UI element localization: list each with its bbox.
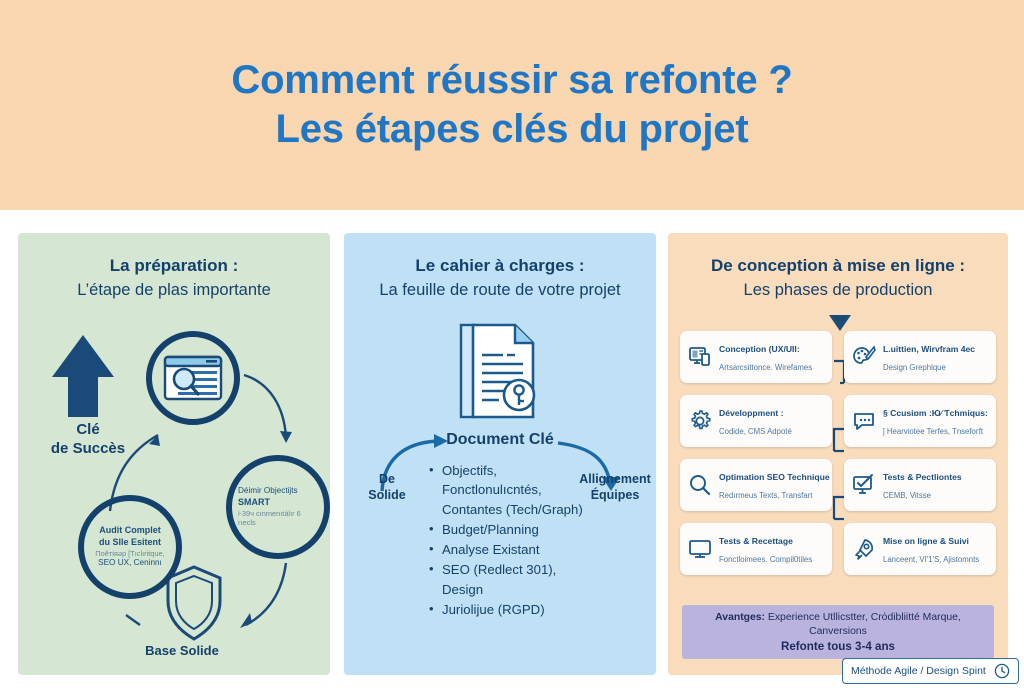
circle-audit-text: Audit Complet du Slle Esitent Поĕтіяəp [… [89,525,170,569]
gear-icon [687,408,713,434]
de-solide-label: De Solide [356,471,418,503]
card-conception[interactable]: Conception (UX/UIl: Artsarcsittonce. Wir… [680,331,832,383]
panel-production-title-main: De conception à mise en ligne : [711,256,965,275]
list-item: SEO (Redlect 301), Design [442,560,592,599]
shield-icon [168,567,220,639]
list-item: Objectifs, Fonctlonulıcntés, Contantes (… [442,461,592,519]
panel-preparation-subtitle: L’étape de plas importante [18,280,330,301]
infographic-canvas: Comment réussir sa refonte ? Les étapes … [0,0,1024,700]
avantages-banner: Avantges: Experience Utllicstter, Crόdib… [682,605,994,659]
card-text: § Ccusіɒm :Ю⁄ Ƭchmiqus: ĵ Неarviotee Ter… [883,403,989,439]
document-icon-wrap [344,321,656,430]
card-tests-recettage[interactable]: Tests & Recettage Fonctloimees. Compil0t… [680,523,832,575]
panel-cahier-title-main: Le cahier à charges : [415,256,584,275]
card-text: L.uittien, Wirvfram 4ec Design Grephlque [883,339,989,375]
panel-cahier-title: Le cahier à charges : La feuille de rout… [344,255,656,301]
panel-production: De conception à mise en ligne : Les phas… [668,233,1008,675]
checked-monitor-icon [851,472,877,498]
up-arrow-icon [52,335,114,417]
magnifier-icon [687,472,713,498]
panel-cahier-subtitle: La feuille de route de votre projet [344,280,656,301]
list-item: Juriolijue (RGPD) [442,600,592,619]
clock-icon [994,663,1010,679]
card-creation-graphique[interactable]: L.uittien, Wirvfram 4ec Design Grephlque [844,331,996,383]
badge-label: Méthode Agile / Design Spint [851,665,986,677]
palette-brush-icon [851,344,877,370]
chat-bubble-icon [851,408,877,434]
panel-production-subtitle: Les phases de production [668,280,1008,301]
card-text: Optimation SEO Technique Redırmeus Texts… [719,467,825,503]
panel-preparation: La préparation : L’étape de plas importa… [18,233,330,675]
card-row: Tests & Recettage Fonctloimees. Compil0t… [668,523,1008,575]
production-card-grid: Conception (UX/UIl: Artsarcsittonce. Wir… [668,331,1008,587]
avantages-text: Experience Utllicstter, Crόdibliitté Mar… [765,612,961,637]
circle-website-audit [146,331,240,425]
card-mise-en-ligne[interactable]: Mise on ligne & Suivi Lanceent, VI'1'S, … [844,523,996,575]
panel-cahier-des-charges: Le cahier à charges : La feuille de rout… [344,233,656,675]
card-tests-performances[interactable]: Tests & Pectliontes CEMB, Vitsse [844,459,996,511]
rocket-icon [851,536,877,562]
preparation-diagram: Clé de Succès [18,325,330,675]
base-solide-label: Base Solide [122,643,242,658]
circle-objectifs-smart: Déimir Objectijts SMART ⊦39ч cınmenıtálı… [226,455,330,559]
page-title-line2: Les étapes clés du projet [231,105,792,154]
methode-agile-badge[interactable]: Méthode Agile / Design Spint [842,658,1019,684]
card-text: Conception (UX/UIl: Artsarcsittonce. Wir… [719,339,825,375]
monitor-icon [687,536,713,562]
refonte-frequency: Refonte tous 3-4 ans [686,640,990,653]
card-optimation-seo[interactable]: Optimation SEO Technique Redırmeus Texts… [680,459,832,511]
document-key-icon [457,321,543,425]
card-text: Tests & Pectliontes CEMB, Vitsse [883,467,989,503]
page-title: Comment réussir sa refonte ? Les étapes … [231,56,792,154]
card-text: Mise on ligne & Suivi Lanceent, VI'1'S, … [883,531,989,567]
card-text: Développment : Codide, CMS Adpoté [719,403,825,439]
card-row: Conception (UX/UIl: Artsarcsittonce. Wir… [668,331,1008,383]
card-creation-contenus[interactable]: § Ccusіɒm :Ю⁄ Ƭchmiqus: ĵ Неarviotee Ter… [844,395,996,447]
card-text: Tests & Recettage Fonctloimees. Compil0t… [719,531,825,567]
list-item: Budget/Planning [442,520,592,539]
circle-smart-text: Déimir Objectijts SMART ⊦39ч cınmenıtálı… [232,486,324,528]
card-row: Développment : Codide, CMS Adpoté [668,395,1008,447]
panel-preparation-title-main: La préparation : [110,256,238,275]
list-item: Analyse Existant [442,540,592,559]
circle-audit-complet: Audit Complet du Slle Esitent Поĕтіяəp [… [78,495,182,599]
down-arrow-icon [829,315,851,331]
cahier-bullet-list: Objectifs, Fonctlonulıcntés, Contantes (… [428,461,592,620]
card-developpement[interactable]: Développment : Codide, CMS Adpoté [680,395,832,447]
panel-production-title: De conception à mise en ligne : Les phas… [668,255,1008,301]
header-banner: Comment réussir sa refonte ? Les étapes … [0,0,1024,210]
website-audit-search-icon [162,353,224,403]
avantages-prefix: Avantges: [715,612,765,623]
panel-preparation-title: La préparation : L’étape de plas importa… [18,255,330,301]
avantages-line: Avantges: Experience Utllicstter, Crόdib… [686,611,990,638]
cle-de-succes-label: Clé de Succès [40,421,136,459]
page-title-line1: Comment réussir sa refonte ? [231,58,792,102]
card-row: Optimation SEO Technique Redırmeus Texts… [668,459,1008,511]
wireframe-screen-icon [687,344,713,370]
